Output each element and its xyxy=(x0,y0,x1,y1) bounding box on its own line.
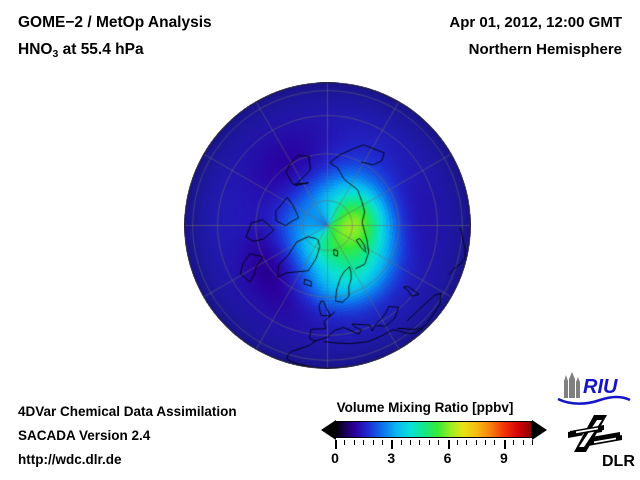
footer-line-method: 4DVar Chemical Data Assimilation xyxy=(18,404,237,419)
colorbar-gradient xyxy=(335,421,532,438)
colorbar-major-tick xyxy=(504,440,506,449)
colorbar-title: Volume Mixing Ratio [ppbv] xyxy=(305,400,545,415)
colorbar-minor-tick xyxy=(401,440,402,445)
colorbar-major-tick xyxy=(448,440,450,449)
colorbar-minor-tick xyxy=(419,440,420,445)
colorbar-minor-tick xyxy=(457,440,458,445)
species-subtitle: HNO3 at 55.4 hPa xyxy=(18,41,144,59)
species-subscript: 3 xyxy=(52,48,58,60)
colorbar-tick-labels: 0369 xyxy=(335,450,532,470)
colorbar-minor-tick xyxy=(382,440,383,445)
colorbar-major-tick xyxy=(391,440,393,449)
colorbar-minor-tick xyxy=(410,440,411,445)
colorbar-tick-label: 9 xyxy=(500,450,508,466)
colorbar-tick-label: 0 xyxy=(331,450,339,466)
orthographic-projection-canvas xyxy=(184,82,471,369)
riu-logo: RIU xyxy=(556,372,632,406)
colorbar-tick-label: 3 xyxy=(387,450,395,466)
colorbar-minor-tick xyxy=(466,440,467,445)
colorbar-minor-tick xyxy=(485,440,486,445)
species-suffix: at 55.4 hPa xyxy=(58,41,143,58)
colorbar-minor-tick xyxy=(523,440,524,445)
riu-logo-text: RIU xyxy=(583,376,618,398)
colorbar-extend-low-arrow xyxy=(321,420,336,440)
globe-map xyxy=(184,82,471,369)
footer-line-version: SACADA Version 2.4 xyxy=(18,428,150,443)
colorbar-minor-tick xyxy=(494,440,495,445)
colorbar-minor-tick xyxy=(354,440,355,445)
page-title: GOME−2 / MetOp Analysis xyxy=(18,14,212,32)
colorbar-minor-tick xyxy=(532,440,533,445)
colorbar-major-tick xyxy=(335,440,337,449)
colorbar-extend-high-arrow xyxy=(532,420,547,440)
colorbar-body xyxy=(314,420,544,440)
colorbar-tick-label: 6 xyxy=(444,450,452,466)
colorbar-minor-tick xyxy=(429,440,430,445)
colorbar-minor-tick xyxy=(363,440,364,445)
colorbar-minor-tick xyxy=(476,440,477,445)
timestamp-label: Apr 01, 2012, 12:00 GMT xyxy=(449,14,622,31)
colorbar-axis-ticks xyxy=(335,440,532,450)
colorbar-minor-tick xyxy=(344,440,345,445)
dlr-logo-text: DLR xyxy=(602,453,635,470)
dlr-logo: DLR xyxy=(566,414,636,474)
dlr-logo-graphic: DLR xyxy=(566,414,636,474)
footer-line-url[interactable]: http://wdc.dlr.de xyxy=(18,452,122,467)
colorbar-minor-tick xyxy=(513,440,514,445)
colorbar-minor-tick xyxy=(438,440,439,445)
species-prefix: HNO xyxy=(18,41,52,58)
colorbar-minor-tick xyxy=(373,440,374,445)
colorbar: Volume Mixing Ratio [ppbv] 0369 xyxy=(305,400,545,472)
hemisphere-label: Northern Hemisphere xyxy=(469,41,622,58)
riu-logo-graphic: RIU xyxy=(556,372,632,406)
